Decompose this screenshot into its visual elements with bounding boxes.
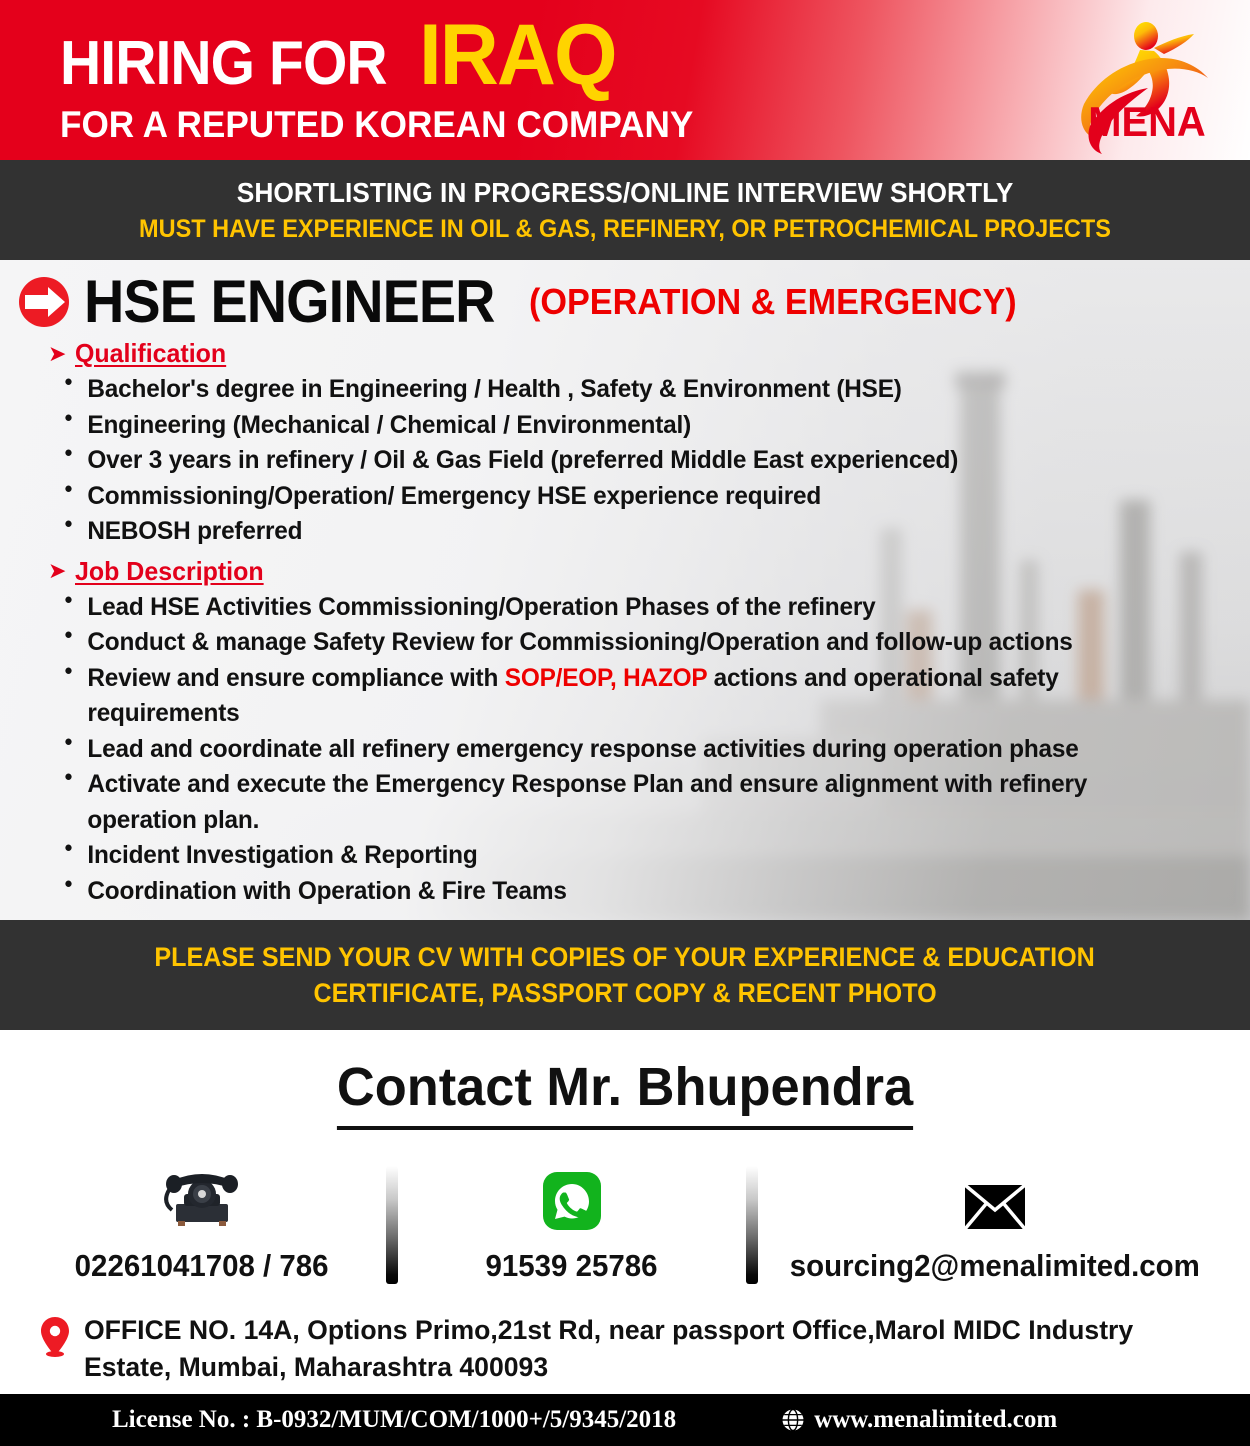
- website-url-text: www.menalimited.com: [814, 1406, 1057, 1434]
- list-item: Activate and execute the Emergency Respo…: [64, 767, 1220, 803]
- contact-divider: [746, 1166, 758, 1284]
- list-item: Bachelor's degree in Engineering / Healt…: [64, 372, 1220, 408]
- website-link[interactable]: www.menalimited.com: [781, 1406, 1057, 1434]
- list-item: Coordination with Operation & Fire Teams: [64, 874, 1220, 910]
- email-icon-wrap: [964, 1156, 1026, 1230]
- email-envelope-icon: [964, 1184, 1026, 1230]
- list-item-continuation: operation plan.: [64, 803, 1220, 839]
- list-item-continuation: requirements: [64, 696, 1220, 732]
- phone-number-text: 02261041708 / 786: [75, 1248, 329, 1284]
- job-content: HSE ENGINEER (OPERATION & EMERGENCY) ➤ Q…: [0, 260, 1250, 909]
- license-number-text: License No. : B-0932/MUM/COM/1000+/5/934…: [112, 1406, 676, 1434]
- address-text: OFFICE NO. 14A, Options Primo,21st Rd, n…: [84, 1312, 1133, 1385]
- list-item-text-pre: Review and ensure compliance with: [87, 664, 504, 692]
- telephone-icon: [160, 1164, 244, 1230]
- contact-channel-phone[interactable]: 02261041708 / 786: [40, 1156, 364, 1284]
- poster-header: HIRING FOR IRAQ FOR A REPUTED KOREAN COM…: [0, 0, 1250, 160]
- section-heading-job-description: ➤ Job Description: [48, 556, 1250, 587]
- list-item: Review and ensure compliance with SOP/EO…: [64, 661, 1220, 697]
- section-heading-qualification: ➤ Qualification: [48, 338, 1250, 369]
- list-item: Lead and coordinate all refinery emergen…: [64, 732, 1220, 768]
- whatsapp-number-text: 91539 25786: [486, 1248, 658, 1284]
- right-arrow-circle-icon: [18, 276, 70, 328]
- job-title-row: HSE ENGINEER (OPERATION & EMERGENCY): [18, 272, 1250, 332]
- shortlisting-status-text: SHORTLISTING IN PROGRESS/ONLINE INTERVIE…: [237, 177, 1014, 209]
- job-title: HSE ENGINEER: [84, 272, 495, 332]
- contact-channel-email[interactable]: sourcing2@menalimited.com: [780, 1156, 1210, 1284]
- header-headline: HIRING FOR IRAQ: [60, 16, 727, 95]
- hiring-for-label: HIRING FOR: [60, 35, 387, 92]
- mena-logo: MENA: [1062, 8, 1232, 158]
- job-title-suffix: (OPERATION & EMERGENCY): [529, 281, 1017, 323]
- chevron-right-icon: ➤: [48, 560, 66, 582]
- experience-requirement-text: MUST HAVE EXPERIENCE IN OIL & GAS, REFIN…: [139, 215, 1111, 244]
- list-item: Incident Investigation & Reporting: [64, 838, 1220, 874]
- contact-channels-row: 02261041708 / 786 91539 25786: [0, 1156, 1250, 1284]
- job-details-section: HSE ENGINEER (OPERATION & EMERGENCY) ➤ Q…: [0, 260, 1250, 920]
- list-item: Engineering (Mechanical / Chemical / Env…: [64, 408, 1220, 444]
- contact-section: Contact Mr. Bhupendra 022610: [0, 1030, 1250, 1284]
- telephone-icon-wrap: [160, 1156, 244, 1230]
- contact-heading-wrap: Contact Mr. Bhupendra: [0, 1056, 1250, 1130]
- job-description-heading-label: Job Description: [75, 556, 264, 587]
- map-pin-icon: [38, 1316, 72, 1358]
- list-item: Over 3 years in refinery / Oil & Gas Fie…: [64, 443, 1220, 479]
- poster-footer: License No. : B-0932/MUM/COM/1000+/5/934…: [0, 1394, 1250, 1446]
- status-banner: SHORTLISTING IN PROGRESS/ONLINE INTERVIE…: [0, 160, 1250, 260]
- contact-person-name: Contact Mr. Bhupendra: [337, 1056, 913, 1130]
- country-label: IRAQ: [419, 16, 616, 95]
- list-item-text-post: actions and operational safety: [707, 664, 1059, 692]
- contact-divider: [386, 1166, 398, 1284]
- email-address-text: sourcing2@menalimited.com: [790, 1248, 1200, 1284]
- header-text-block: HIRING FOR IRAQ FOR A REPUTED KOREAN COM…: [60, 16, 727, 146]
- list-item: Lead HSE Activities Commissioning/Operat…: [64, 590, 1220, 626]
- qualification-list: Bachelor's degree in Engineering / Healt…: [64, 372, 1250, 550]
- cv-instruction-line1: PLEASE SEND YOUR CV WITH COPIES OF YOUR …: [155, 942, 1095, 973]
- list-item: Conduct & manage Safety Review for Commi…: [64, 625, 1220, 661]
- cv-instruction-line2: CERTIFICATE, PASSPORT COPY & RECENT PHOT…: [313, 978, 936, 1009]
- cv-instruction-banner: PLEASE SEND YOUR CV WITH COPIES OF YOUR …: [0, 920, 1250, 1030]
- address-line-2: Estate, Mumbai, Maharashtra 400093: [84, 1349, 1133, 1386]
- list-item: NEBOSH preferred: [64, 514, 1220, 550]
- whatsapp-icon: [543, 1172, 601, 1230]
- contact-channel-whatsapp[interactable]: 91539 25786: [420, 1156, 724, 1284]
- chevron-right-icon: ➤: [48, 343, 66, 365]
- mena-logo-text: MENA: [1066, 98, 1228, 146]
- list-item-highlight: SOP/EOP, HAZOP: [505, 664, 707, 692]
- list-item: Commissioning/Operation/ Emergency HSE e…: [64, 479, 1220, 515]
- office-address: OFFICE NO. 14A, Options Primo,21st Rd, n…: [0, 1284, 1250, 1385]
- company-subtitle: FOR A REPUTED KOREAN COMPANY: [60, 104, 693, 146]
- job-description-list: Lead HSE Activities Commissioning/Operat…: [64, 590, 1250, 910]
- address-line-1: OFFICE NO. 14A, Options Primo,21st Rd, n…: [84, 1312, 1133, 1349]
- globe-icon: [781, 1408, 805, 1432]
- whatsapp-icon-wrap: [543, 1156, 601, 1230]
- qualification-heading-label: Qualification: [75, 338, 226, 369]
